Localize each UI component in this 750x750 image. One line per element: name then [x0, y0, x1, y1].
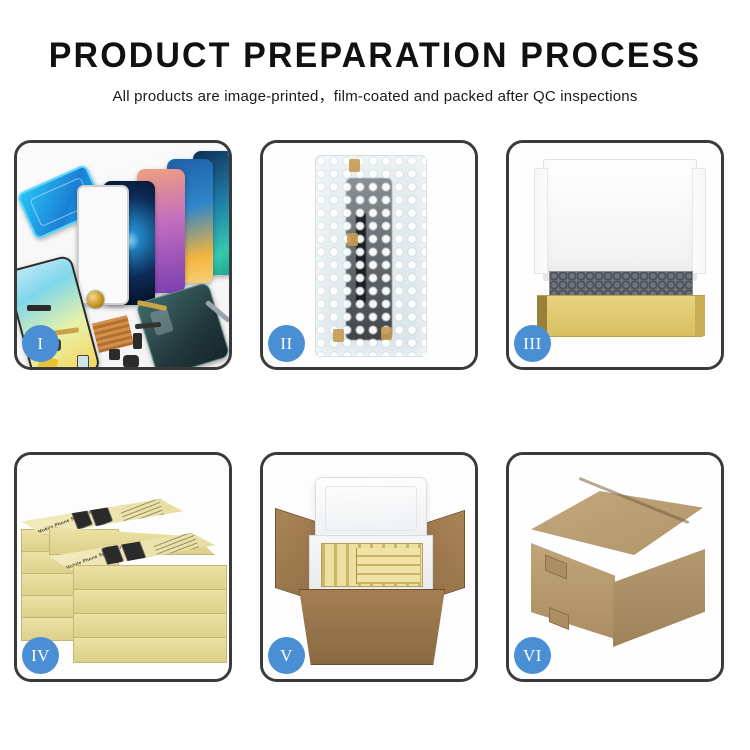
screen-protector-graphic — [77, 185, 129, 305]
step-badge-2: II — [268, 325, 305, 362]
box-spec-lines-1 — [120, 495, 165, 528]
page-header: PRODUCT PREPARATION PROCESS All products… — [0, 0, 750, 106]
copper-pcb-graphic — [92, 315, 134, 353]
step-badge-1: I — [22, 325, 59, 362]
stack-box-r2 — [73, 589, 227, 615]
step-badge-3: III — [514, 325, 551, 362]
step-badge-4: IV — [22, 637, 59, 674]
speaker-mesh-graphic — [27, 305, 51, 311]
process-step-4: Mobile Phone Spare Parts Mobile Phone Sp… — [14, 452, 232, 682]
small-ic-graphic — [109, 349, 120, 360]
button-cap-graphic — [123, 355, 139, 367]
carton-side-face-graphic — [613, 549, 705, 647]
step-badge-5: V — [268, 637, 305, 674]
tape-piece-2-graphic — [347, 233, 358, 246]
carton-front-face-graphic — [531, 543, 615, 639]
tape-piece-3-graphic — [333, 329, 344, 342]
process-steps-grid: I II III — [14, 140, 736, 680]
packed-yellow-boxes-graphic — [321, 543, 423, 587]
vibrator-motor-graphic — [133, 333, 142, 349]
tape-piece-4-graphic — [381, 327, 392, 340]
stack-box-r4 — [73, 637, 227, 663]
process-step-5: V — [260, 452, 478, 682]
tape-piece-1-graphic — [349, 159, 360, 172]
stack-box-r3 — [73, 613, 227, 639]
foam-box-lid-graphic — [315, 477, 427, 541]
box-screen-image-1 — [71, 507, 93, 530]
bubble-texture-graphic — [316, 156, 426, 356]
white-box-lid-graphic — [543, 159, 697, 281]
outer-carton-body-graphic — [299, 589, 445, 665]
process-step-6: VI — [506, 452, 724, 682]
process-step-3: III — [506, 140, 724, 370]
step-badge-6: VI — [514, 637, 551, 674]
bubble-wrap-bag-graphic — [315, 155, 427, 357]
process-step-2: II — [260, 140, 478, 370]
process-step-1: I — [14, 140, 232, 370]
carton-top-face-graphic — [531, 491, 703, 555]
camera-lens-graphic — [87, 291, 104, 308]
kraft-box-base-graphic — [537, 295, 705, 337]
page-title: PRODUCT PREPARATION PROCESS — [11, 36, 739, 76]
sim-tray-graphic — [77, 355, 89, 367]
page-subtitle: All products are image-printed，film-coat… — [0, 85, 750, 106]
stack-box-r1 — [73, 565, 227, 591]
